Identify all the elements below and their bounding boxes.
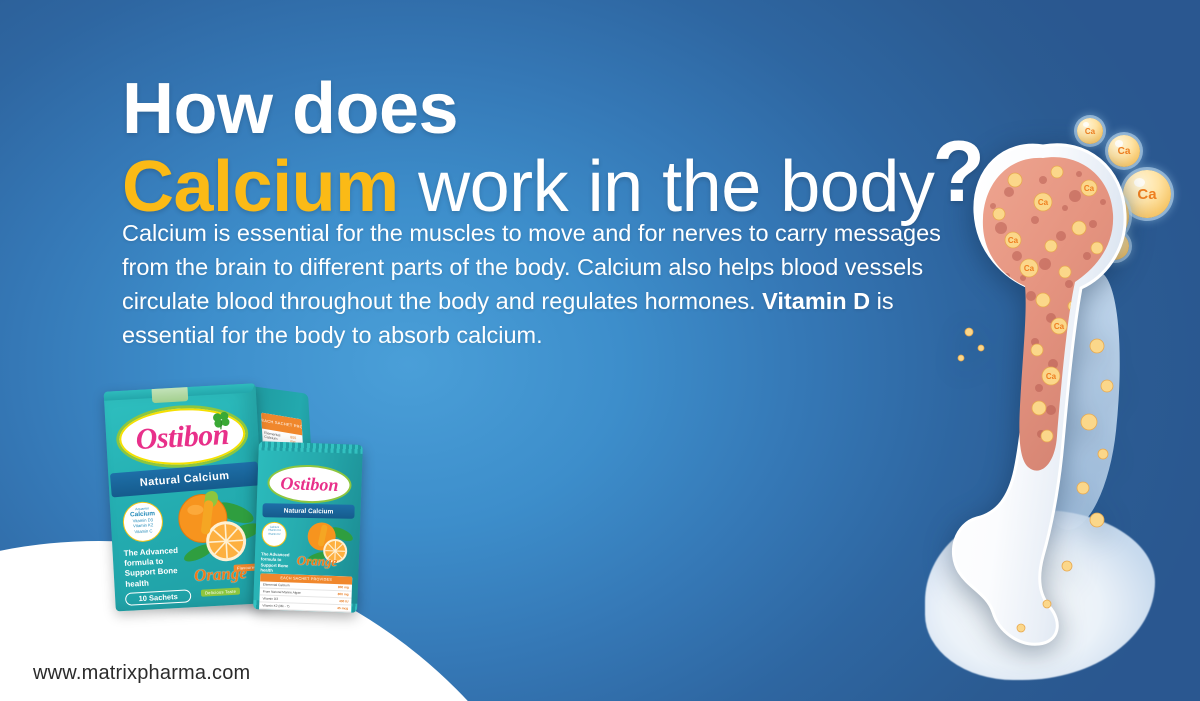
flavour-bottom-label: Delicious Taste: [201, 588, 240, 597]
page-title: How does Calcium work in the body?: [122, 76, 986, 223]
sachet-flavour-name: Orange: [297, 553, 338, 570]
brand-logo-plate: Ostibon: [115, 402, 250, 471]
nutrient-name: Vitamin D3: [262, 596, 278, 601]
body-paragraph: Calcium is essential for the muscles to …: [122, 216, 982, 352]
product-sachet: Ostibon Natural Calcium Calcium Vitamin …: [253, 441, 363, 613]
headline-line-1: How does: [122, 76, 986, 143]
nutrient-name: Vitamin K2 (Mk - 7): [262, 603, 289, 608]
svg-text:Ca: Ca: [1024, 264, 1035, 273]
sachet-subtitle: Natural Calcium: [284, 507, 334, 515]
nutrient-value: 45 mcg: [337, 606, 348, 610]
headline-line-2: Calcium work in the body?: [122, 143, 986, 223]
sachet-count-badge: 10 Sachets: [125, 589, 192, 606]
body-bold-term: Vitamin D: [762, 288, 870, 314]
product-packshot: EACH SACHET PROVIDES Elemental Calcium 8…: [104, 381, 379, 631]
ingredient-badge: Aquamin Calcium Vitamin D3 Vitamin K2 Vi…: [122, 501, 164, 543]
nutrient-value: 800 mg: [338, 585, 349, 589]
sachet-brand-name: Ostibon: [269, 473, 350, 497]
svg-text:Ca: Ca: [1046, 372, 1057, 381]
svg-text:Ca: Ca: [1084, 184, 1095, 193]
headline-accent-word: Calcium: [122, 147, 399, 227]
sachet-front: Ostibon Natural Calcium Calcium Vitamin …: [253, 441, 363, 613]
sachet-nutrition-table: EACH SACHET PROVIDES Elemental Calcium 8…: [259, 573, 352, 612]
promo-poster: Ca Ca Ca Ca Ca: [0, 0, 1200, 701]
headline-rest: work in the body: [399, 147, 935, 227]
badge-line-5: Vitamin C: [124, 527, 162, 534]
nutrient-name: From Natural Marine Algae: [263, 589, 301, 594]
sachet-top-seal: [259, 441, 363, 454]
tablets-image: [151, 385, 188, 403]
question-mark-icon: ?: [932, 133, 984, 213]
sachet-subtitle-banner: Natural Calcium: [262, 503, 354, 519]
sachet-badge-line-4: Vitamin K2: [263, 532, 286, 536]
nutrient-value: 400 IU: [339, 599, 349, 603]
svg-text:Ca: Ca: [1008, 236, 1019, 245]
website-url[interactable]: www.matrixpharma.com: [33, 662, 250, 685]
sachet-ingredient-badge: Calcium Vitamin D3 Vitamin K2: [261, 521, 287, 547]
svg-text:Ca: Ca: [1054, 322, 1065, 331]
sachet-logo-plate: Ostibon: [267, 464, 352, 505]
nutrient-name: Elemental Calcium: [263, 582, 290, 587]
product-claim: The Advanced formula to Support Bone hea…: [123, 545, 187, 589]
svg-text:Ca: Ca: [1038, 198, 1049, 207]
nutrient-value: 800 mg: [338, 592, 349, 596]
clover-leaf-icon: [210, 410, 233, 431]
product-subtitle: Natural Calcium: [139, 470, 229, 489]
product-box: EACH SACHET PROVIDES Elemental Calcium 8…: [104, 383, 276, 616]
box-front-panel: Ostibon Natural Calcium Aquamin Calcium: [104, 383, 268, 611]
flavour-badge: Flavoured Orange Delicious Taste: [194, 563, 262, 597]
sachet-claim: The Advanced formula to Support Bone hea…: [260, 551, 297, 574]
